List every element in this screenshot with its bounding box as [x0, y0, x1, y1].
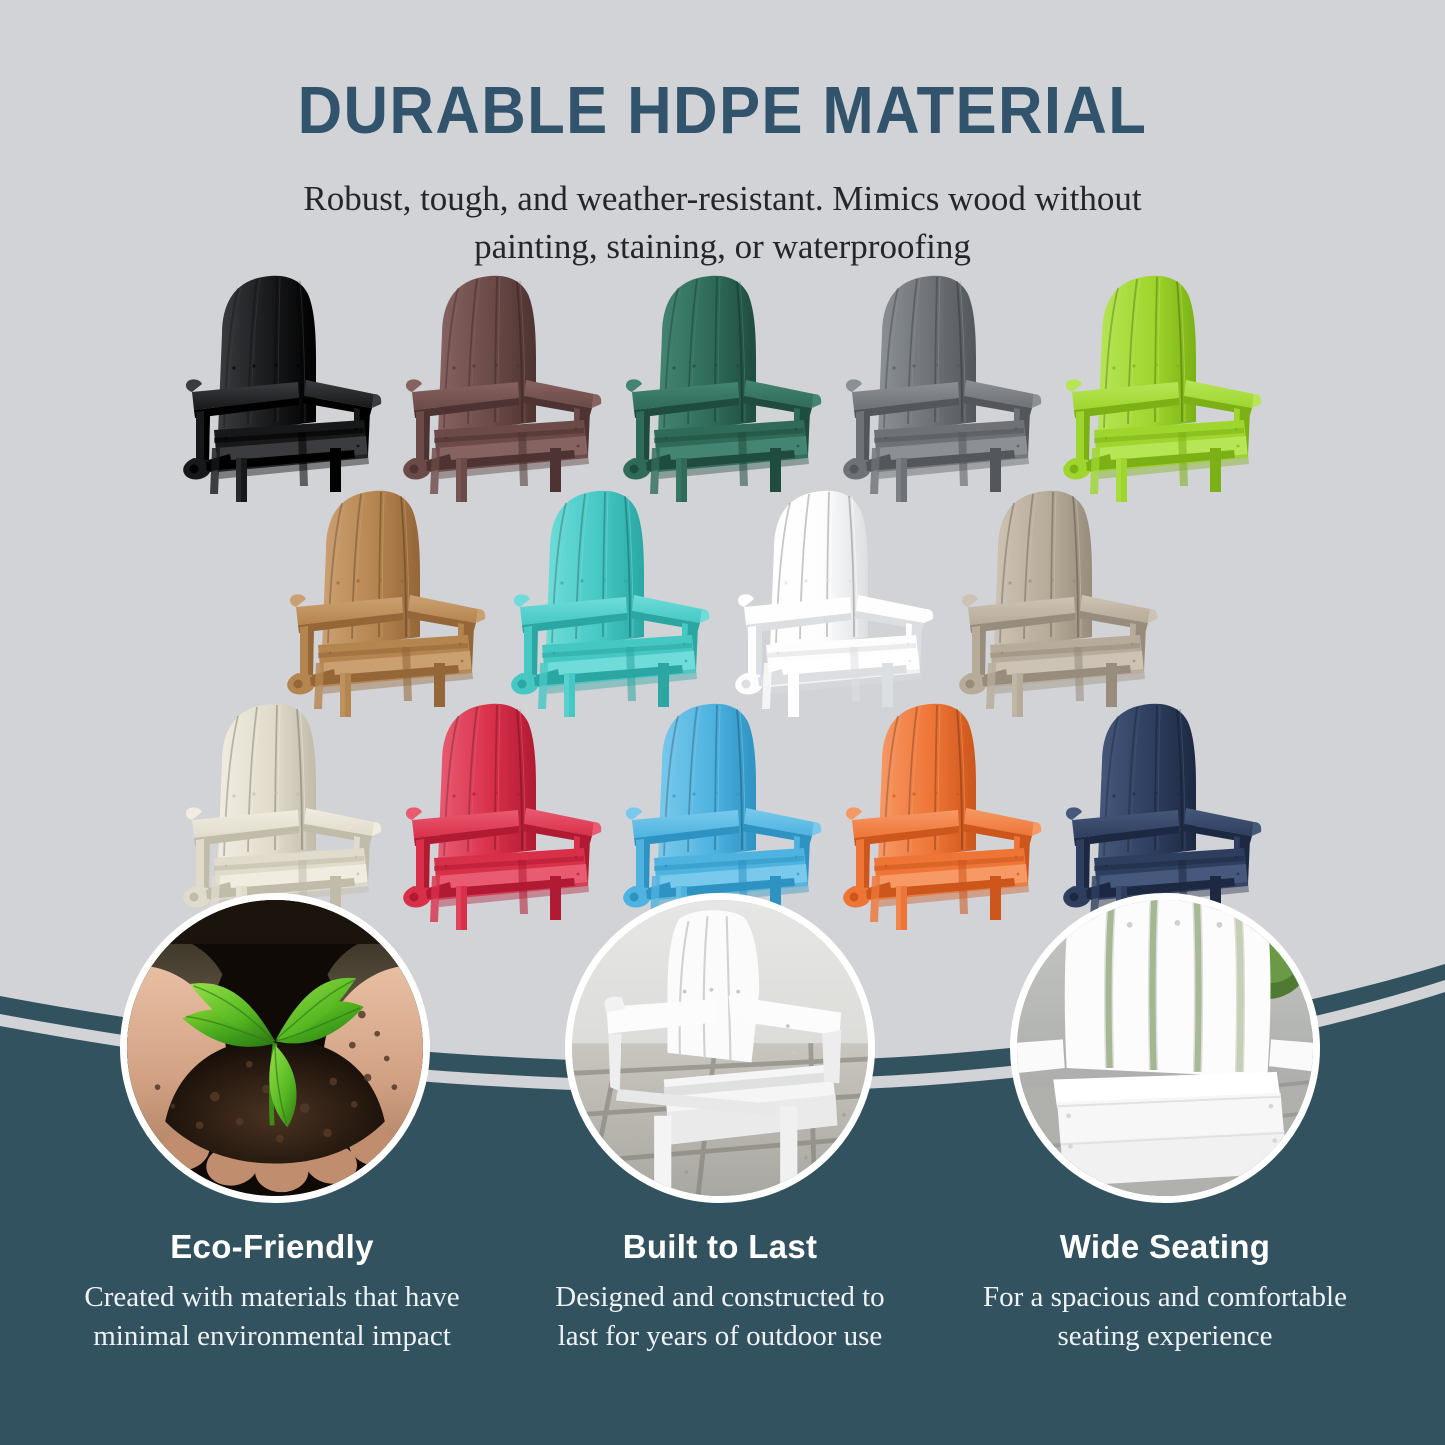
- chair-white[interactable]: [730, 487, 940, 719]
- chair-row-1: [0, 272, 1445, 504]
- page-subtitle: Robust, tough, and weather-resistant. Mi…: [218, 175, 1228, 272]
- chair-red[interactable]: [398, 700, 608, 932]
- page-title: DURABLE HDPE MATERIAL: [58, 72, 1387, 149]
- white-chair-on-patio-photo: [565, 893, 875, 1203]
- chair-graphic: [838, 700, 1048, 932]
- infographic-page: DURABLE HDPE MATERIAL Robust, tough, and…: [0, 0, 1445, 1445]
- feature-desc-line-2: minimal environmental impact: [93, 1320, 451, 1352]
- feature-wide-seating: Wide Seating For a spacious and comforta…: [935, 1228, 1395, 1355]
- chair-graphic: [1058, 272, 1268, 504]
- feature-desc-line-2: last for years of outdoor use: [558, 1320, 883, 1352]
- feature-desc-line-2: seating experience: [1058, 1320, 1273, 1352]
- chair-row-2: [0, 487, 1445, 719]
- chair-graphic: [954, 487, 1164, 719]
- feature-description: Created with materials that have minimal…: [42, 1278, 502, 1355]
- chair-turquoise[interactable]: [506, 487, 716, 719]
- chair-lime-green[interactable]: [1058, 272, 1268, 504]
- chair-graphic: [282, 487, 492, 719]
- feature-title: Built to Last: [490, 1228, 950, 1266]
- feature-built-to-last: Built to Last Designed and constructed t…: [490, 1228, 950, 1355]
- chair-graphic: [178, 272, 388, 504]
- chair-gray[interactable]: [838, 272, 1048, 504]
- feature-description: For a spacious and comfortable seating e…: [935, 1278, 1395, 1355]
- feature-description: Designed and constructed to last for yea…: [490, 1278, 950, 1355]
- chair-orange[interactable]: [838, 700, 1048, 932]
- chair-brown[interactable]: [398, 272, 608, 504]
- chair-graphic: [506, 487, 716, 719]
- hands-holding-seedling-photo: [120, 893, 430, 1203]
- feature-desc-line-1: Designed and constructed to: [555, 1281, 884, 1313]
- feature-eco-friendly: Eco-Friendly Created with materials that…: [42, 1228, 502, 1355]
- feature-desc-line-1: For a spacious and comfortable: [983, 1281, 1347, 1313]
- subtitle-line-1: Robust, tough, and weather-resistant. Mi…: [303, 179, 1141, 218]
- chair-graphic: [398, 272, 608, 504]
- feature-title: Eco-Friendly: [42, 1228, 502, 1266]
- subtitle-line-2: painting, staining, or waterproofing: [474, 227, 971, 266]
- feature-desc-line-1: Created with materials that have: [84, 1281, 459, 1313]
- chair-graphic: [618, 272, 828, 504]
- chair-black[interactable]: [178, 272, 388, 504]
- chair-graphic: [398, 700, 608, 932]
- chair-dark-green[interactable]: [618, 272, 828, 504]
- chair-teak[interactable]: [282, 487, 492, 719]
- wide-chair-seat-closeup-photo: [1010, 893, 1320, 1203]
- chair-graphic: [838, 272, 1048, 504]
- feature-title: Wide Seating: [935, 1228, 1395, 1266]
- chair-weathered-wood[interactable]: [954, 487, 1164, 719]
- chair-graphic: [730, 487, 940, 719]
